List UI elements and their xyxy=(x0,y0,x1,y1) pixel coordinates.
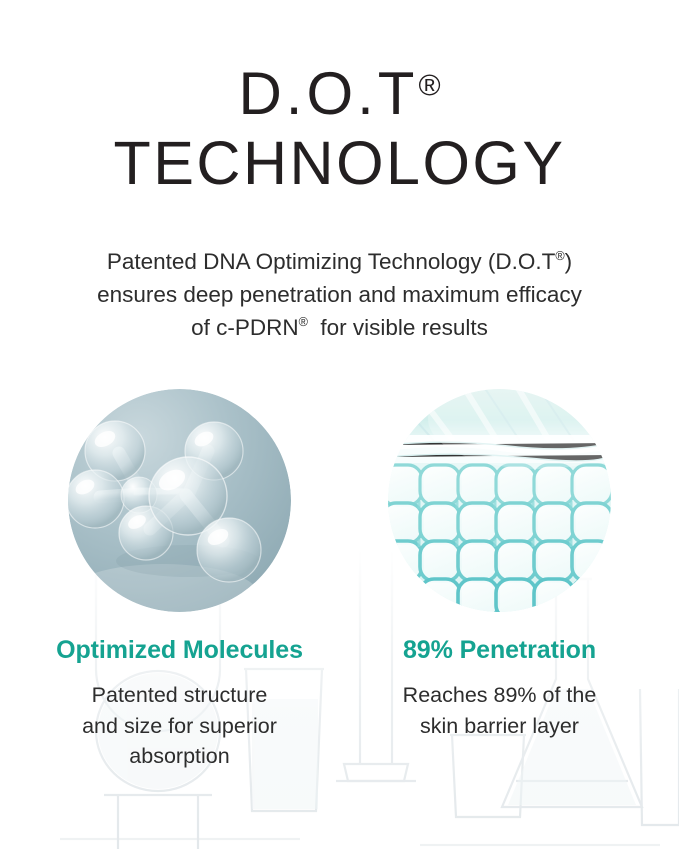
feature-description: Reaches 89% of the skin barrier layer xyxy=(350,680,650,741)
subtitle-line-1-text-a: Patented DNA Optimizing Technology (D.O.… xyxy=(107,249,556,274)
registered-trademark-icon: ® xyxy=(418,70,440,103)
title-line-2: TECHNOLOGY xyxy=(0,134,679,194)
subtitle-line-1: Patented DNA Optimizing Technology (D.O.… xyxy=(40,245,640,278)
feature-description-line: absorption xyxy=(30,741,330,772)
feature-description-line: Reaches 89% of the xyxy=(350,680,650,711)
feature-description-line: and size for superior xyxy=(30,711,330,742)
title-line-1: D.O.T® xyxy=(0,65,679,124)
registered-trademark-icon: ® xyxy=(299,315,308,329)
molecule-model-image xyxy=(68,389,291,612)
feature-optimized-molecules: Optimized Molecules Patented structure a… xyxy=(30,389,330,772)
feature-title: Optimized Molecules xyxy=(30,636,330,665)
page-title: D.O.T® TECHNOLOGY xyxy=(0,65,679,194)
title-line-1-text: D.O.T xyxy=(238,60,418,127)
feature-description: Patented structure and size for superior… xyxy=(30,680,330,772)
skin-barrier-lattice-image xyxy=(388,389,611,612)
infographic-page: D.O.T® TECHNOLOGY Patented DNA Optimizin… xyxy=(0,0,679,849)
registered-trademark-icon: ® xyxy=(555,248,564,262)
subtitle: Patented DNA Optimizing Technology (D.O.… xyxy=(40,245,640,345)
subtitle-line-3: of c-PDRN® for visible results xyxy=(40,311,640,344)
subtitle-line-1-text-b: ) xyxy=(565,249,573,274)
feature-description-line: skin barrier layer xyxy=(350,711,650,742)
feature-description-line: Patented structure xyxy=(30,680,330,711)
feature-title: 89% Penetration xyxy=(350,636,650,665)
feature-penetration: 89% Penetration Reaches 89% of the skin … xyxy=(350,389,650,772)
subtitle-line-3-text-a: of c-PDRN xyxy=(191,315,299,340)
subtitle-line-3-text-b: for visible results xyxy=(308,315,488,340)
feature-list: Optimized Molecules Patented structure a… xyxy=(0,389,679,772)
subtitle-line-2: ensures deep penetration and maximum eff… xyxy=(40,278,640,311)
